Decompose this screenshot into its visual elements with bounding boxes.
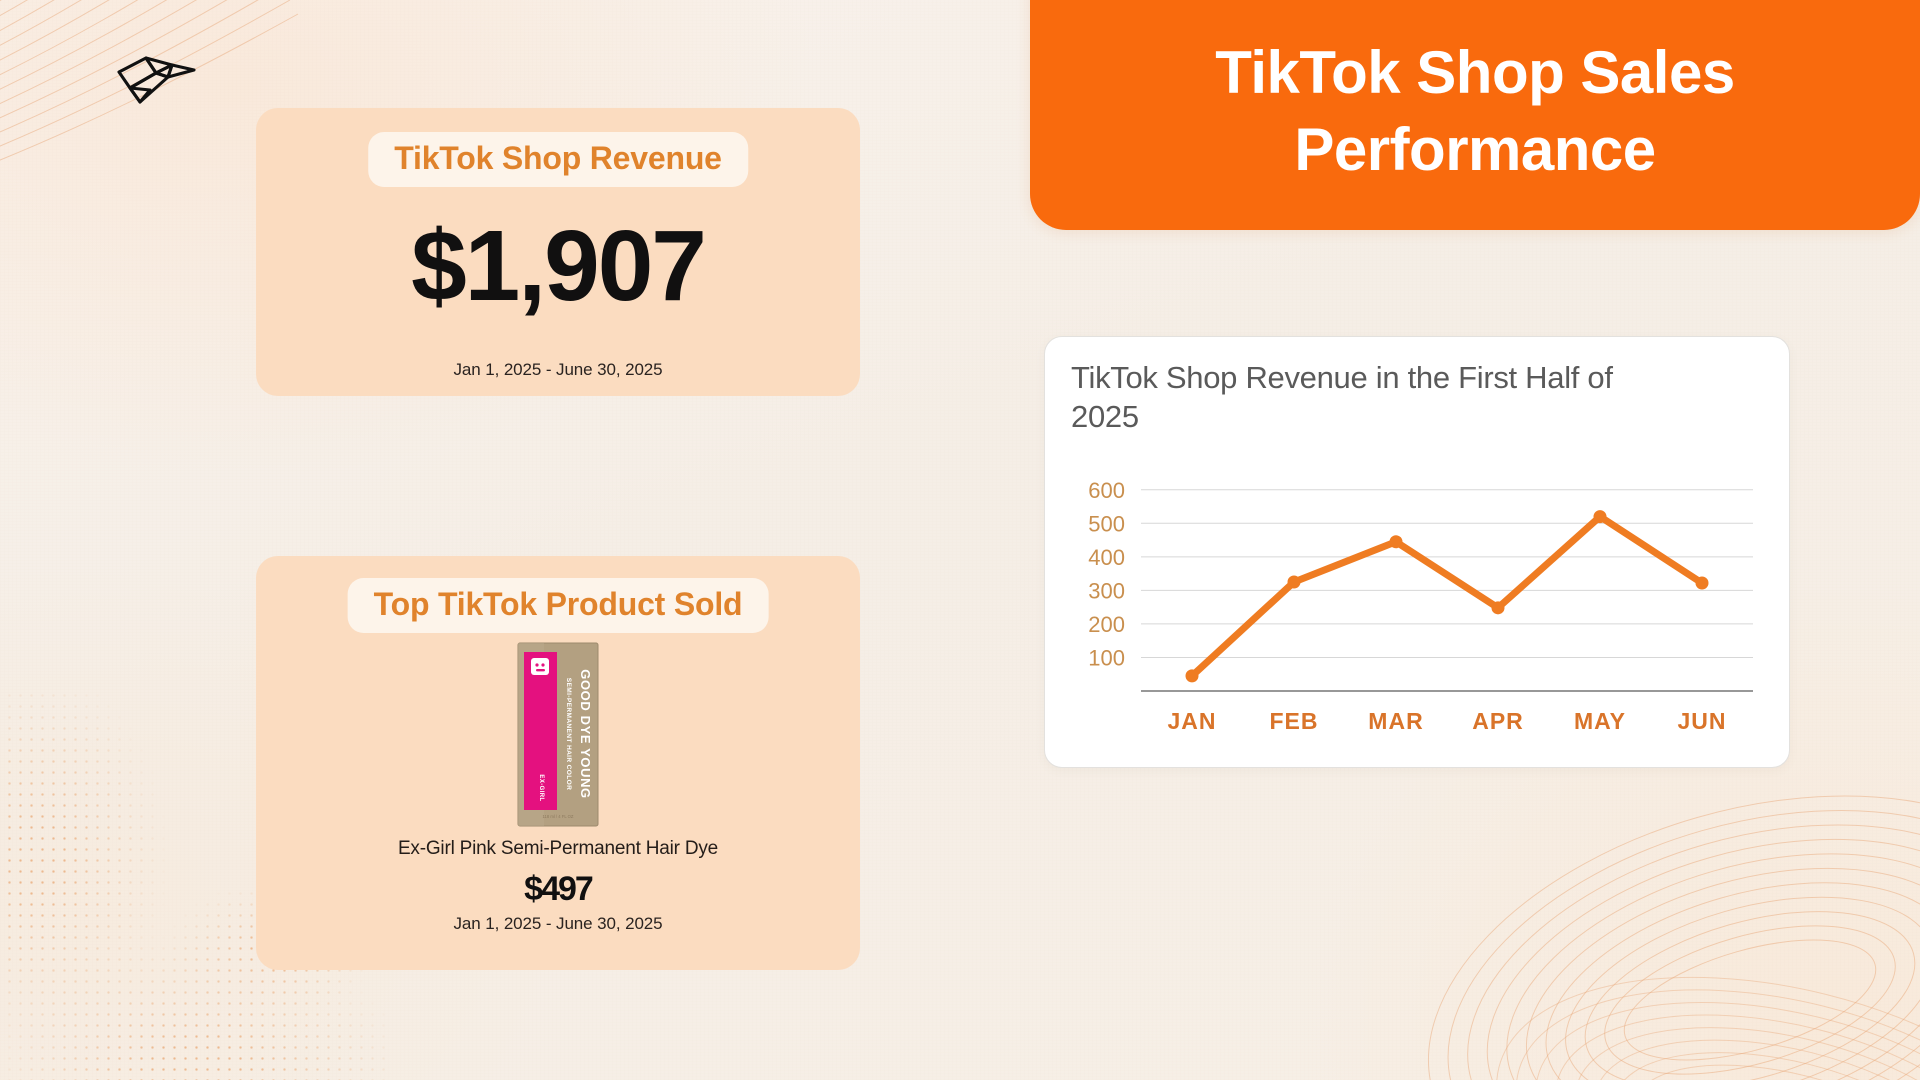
y-axis-tick-label: 600 [1088,478,1125,503]
chart-title: TikTok Shop Revenue in the First Half of… [1071,359,1631,437]
x-axis-tick-label: FEB [1270,708,1319,734]
chart-data-point [1492,601,1505,614]
y-axis-tick-label: 100 [1088,645,1125,670]
revenue-stat-card: TikTok Shop Revenue $1,907 Jan 1, 2025 -… [256,108,860,396]
revenue-date-range: Jan 1, 2025 - June 30, 2025 [256,360,860,380]
y-axis-tick-label: 400 [1088,545,1125,570]
chart-data-point [1390,535,1403,548]
product-amount-value: $497 [256,870,860,909]
revenue-line-chart-card: TikTok Shop Revenue in the First Half of… [1044,336,1790,768]
x-axis-tick-label: APR [1472,708,1524,734]
chart-line-series [1192,517,1702,676]
product-card-label: Top TikTok Product Sold [348,578,769,633]
revenue-card-label: TikTok Shop Revenue [368,132,748,187]
chart-data-point [1696,577,1709,590]
y-axis-tick-label: 200 [1088,612,1125,637]
svg-text:SEMI-PERMANENT HAIR COLOR: SEMI-PERMANENT HAIR COLOR [565,678,572,790]
x-axis-tick-label: MAR [1368,708,1423,734]
y-axis-tick-label: 300 [1088,578,1125,603]
chart-data-point [1594,510,1607,523]
product-image: EX-GIRL GOOD DYE YOUNG SEMI-PERMANENT HA… [517,642,599,827]
page-title: TikTok Shop Sales Performance [1030,1,1920,189]
top-product-stat-card: Top TikTok Product Sold EX-GIRL GOOD DYE… [256,556,860,970]
svg-text:EX-GIRL: EX-GIRL [538,774,544,801]
product-name: Ex-Girl Pink Semi-Permanent Hair Dye [256,838,860,860]
svg-text:118 ml / 4 FL OZ: 118 ml / 4 FL OZ [543,814,574,819]
x-axis-tick-label: JAN [1167,708,1216,734]
revenue-line-chart: 600500400300200100JANFEBMARAPRMAYJUN [1067,465,1769,747]
chart-data-point [1288,576,1301,589]
svg-text:GOOD DYE YOUNG: GOOD DYE YOUNG [578,669,593,799]
revenue-amount-value: $1,907 [256,216,860,316]
x-axis-tick-label: JUN [1677,708,1726,734]
x-axis-tick-label: MAY [1574,708,1626,734]
header-banner: TikTok Shop Sales Performance [1030,0,1920,230]
origami-bird-logo-icon [110,50,198,108]
product-date-range: Jan 1, 2025 - June 30, 2025 [256,914,860,934]
chart-data-point [1186,669,1199,682]
y-axis-tick-label: 500 [1088,511,1125,536]
